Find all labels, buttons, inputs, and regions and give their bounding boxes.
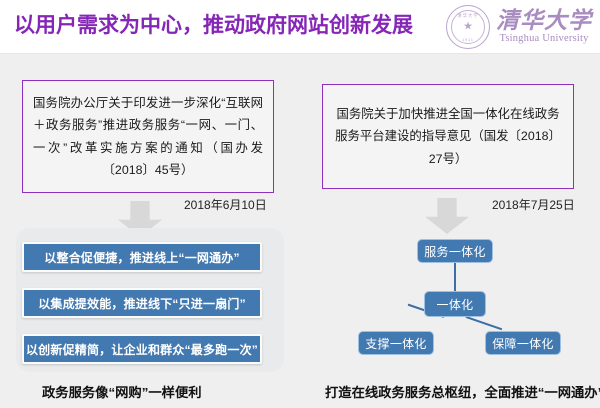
flow-node-integration-label: 一体化 <box>437 296 474 313</box>
measure-bar-1[interactable]: 以整合促便捷，推进线上“一网通办” <box>22 242 262 272</box>
flow-node-support[interactable]: 支撑一体化 <box>358 331 434 355</box>
tsinghua-seal-icon: 清华大学 1911 <box>446 5 490 49</box>
flow-node-integration[interactable]: 一体化 <box>424 291 486 317</box>
right-panel-caption: 打造在线政务服务总枢纽，全面推进“一网通办” <box>325 382 600 401</box>
flow-connector-vertical <box>454 263 456 292</box>
logo-name-en: Tsinghua University <box>499 33 588 46</box>
seal-top-text: 清华大学 <box>447 13 489 19</box>
measure-bar-3[interactable]: 以创新促精简，让企业和群众“最多跑一次” <box>22 334 262 364</box>
measure-bar-2-label: 以集成提效能，推进线下“只进一扇门” <box>38 295 246 312</box>
flow-node-service[interactable]: 服务一体化 <box>417 239 493 263</box>
page-title: 以用户需求为中心，推动政府网站创新发展 <box>14 9 413 39</box>
arrow-down-icon-right <box>425 198 469 234</box>
document-title-left: 国务院办公厅关于印发进一步深化“互联网＋政务服务”推进政务服务“一网、一门、一次… <box>23 92 273 180</box>
slide-header: 以用户需求为中心，推动政府网站创新发展 清华大学 1911 清华大学 Tsing… <box>0 0 600 54</box>
measure-bar-1-label: 以整合促便捷，推进线上“一网通办” <box>44 249 239 266</box>
document-date-right: 2018年7月25日 <box>492 196 575 213</box>
flow-node-guarantee[interactable]: 保障一体化 <box>485 331 561 355</box>
slide-root: 以用户需求为中心，推动政府网站创新发展 清华大学 1911 清华大学 Tsing… <box>0 0 600 408</box>
measure-bar-2[interactable]: 以集成提效能，推进线下“只进一扇门” <box>22 288 262 318</box>
flow-connector-right <box>466 316 502 330</box>
document-card-left: 国务院办公厅关于印发进一步深化“互联网＋政务服务”推进政务服务“一网、一门、一次… <box>22 80 274 193</box>
flow-node-guarantee-label: 保障一体化 <box>492 335 554 352</box>
flow-node-service-label: 服务一体化 <box>424 243 486 260</box>
seal-bottom-text: 1911 <box>447 38 489 42</box>
measure-bar-3-label: 以创新促精简，让企业和群众“最多跑一次” <box>26 341 258 358</box>
flow-node-support-label: 支撑一体化 <box>365 335 427 352</box>
logo-wordmark: 清华大学 Tsinghua University <box>496 9 592 46</box>
logo-name-cn: 清华大学 <box>496 9 592 33</box>
left-panel-caption: 政务服务像“网购”一样便利 <box>42 382 202 401</box>
document-date-left: 2018年6月10日 <box>184 196 267 213</box>
tsinghua-logo: 清华大学 1911 清华大学 Tsinghua University <box>446 4 592 50</box>
document-card-right: 国务院关于加快推进全国一体化在线政务服务平台建设的指导意见（国发〔2018〕27… <box>322 84 574 189</box>
document-title-right: 国务院关于加快推进全国一体化在线政务服务平台建设的指导意见（国发〔2018〕27… <box>323 103 573 169</box>
